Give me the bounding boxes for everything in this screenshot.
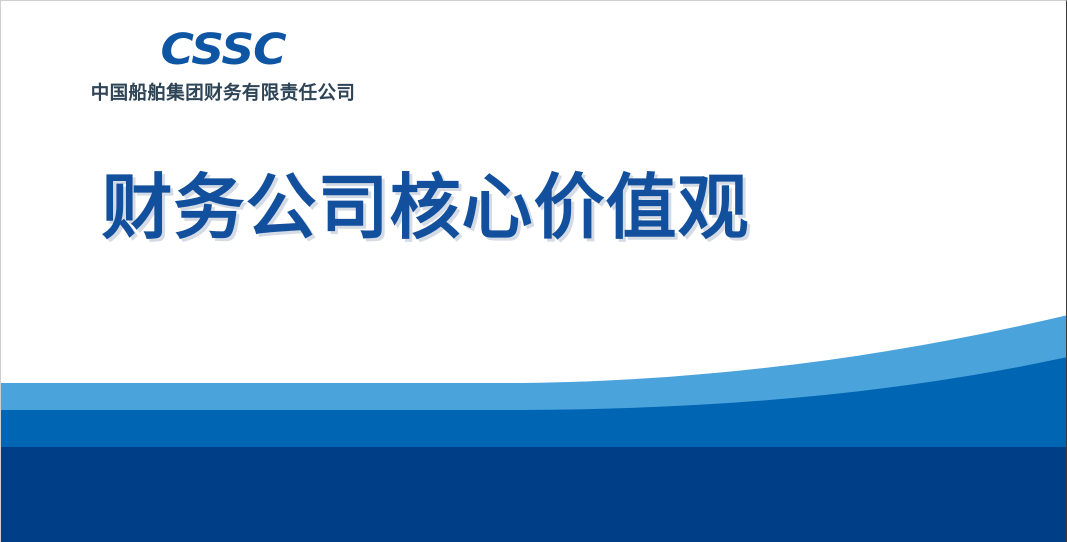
wave-decoration	[1, 297, 1067, 542]
navy-band-shape	[1, 447, 1067, 542]
title-slide: CSSC 中国船舶集团财务有限责任公司 财务公司核心价值观	[0, 0, 1067, 542]
company-logo: CSSC 中国船舶集团财务有限责任公司	[77, 29, 369, 104]
cssc-wordmark: CSSC	[68, 29, 378, 72]
slide-title: 财务公司核心价值观	[101, 169, 749, 247]
title-container: 财务公司核心价值观	[1, 169, 1067, 247]
company-name-label: 中国船舶集团财务有限责任公司	[77, 84, 369, 104]
